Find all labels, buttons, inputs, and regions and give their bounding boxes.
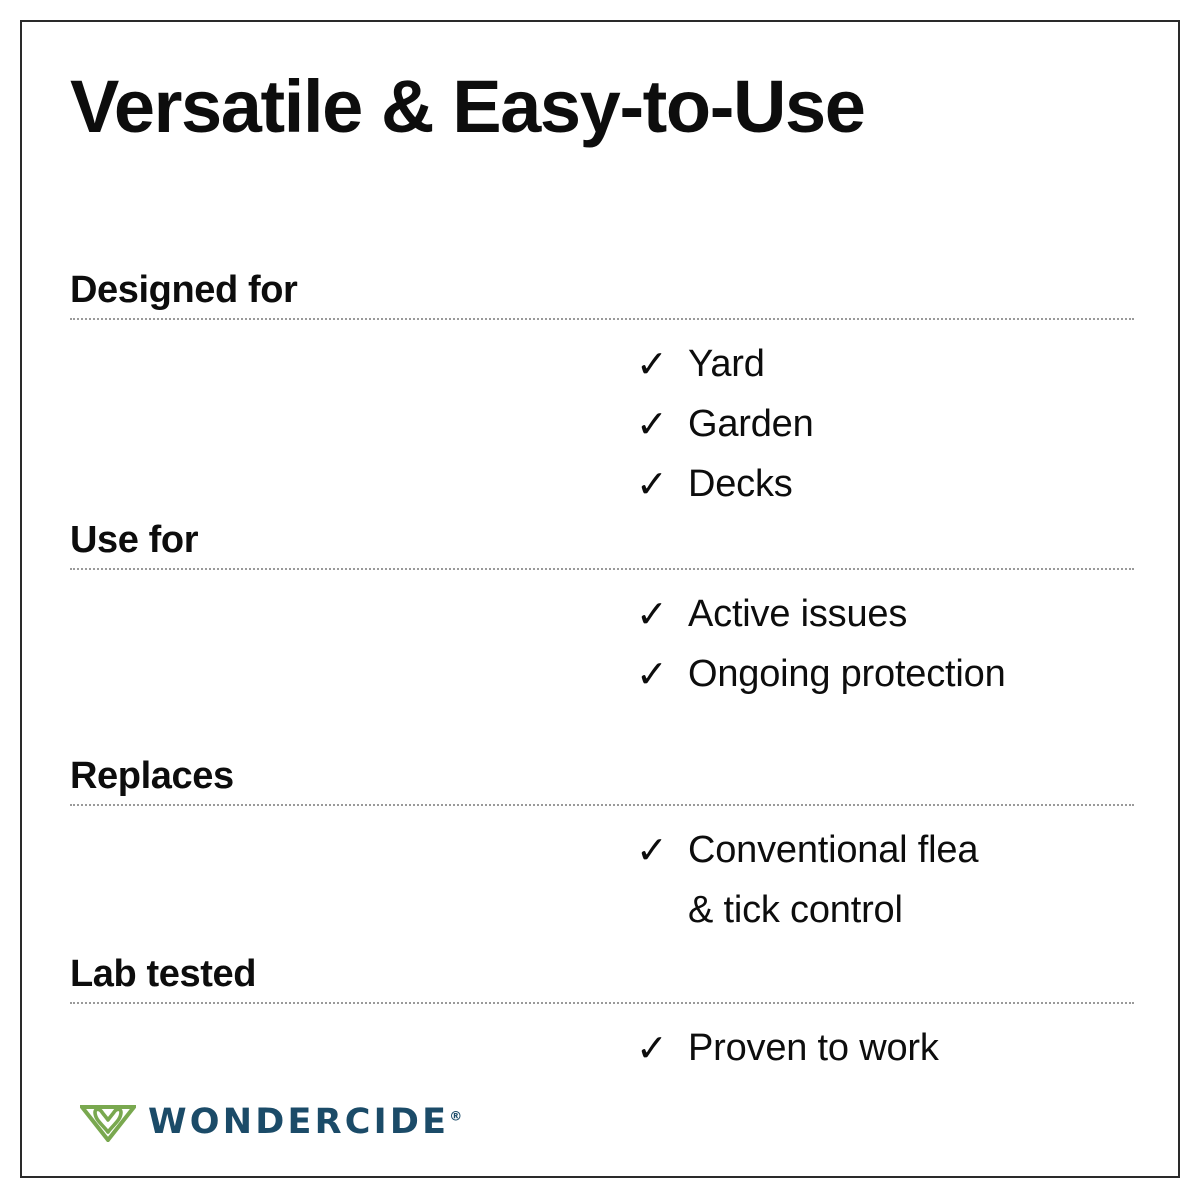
- list-item: ✓ Proven to work: [70, 1018, 1134, 1078]
- checkmark-icon: ✓: [636, 820, 688, 880]
- section-header-lab-tested: Lab tested: [70, 954, 1134, 1004]
- checkmark-icon: ✓: [636, 584, 688, 644]
- list-item-label: Yard: [688, 334, 1134, 394]
- section-items-use-for: ✓ Active issues ✓ Ongoing protection: [70, 570, 1134, 704]
- registered-trademark-icon: ®: [449, 1109, 462, 1124]
- wondercide-w-triangle-icon: [80, 1102, 136, 1142]
- list-item-label: Conventional flea & tick control: [688, 820, 1134, 940]
- list-item: ✓ Conventional flea & tick control: [70, 820, 1134, 940]
- section-items-lab-tested: ✓ Proven to work: [70, 1004, 1134, 1078]
- card-body: Versatile & Easy-to-Use Designed for ✓ Y…: [70, 22, 1134, 1176]
- checkmark-icon: ✓: [636, 394, 688, 454]
- checkmark-icon: ✓: [636, 644, 688, 704]
- list-item-label: Proven to work: [688, 1018, 1134, 1078]
- list-item-label: Decks: [688, 454, 1134, 514]
- checkmark-icon: ✓: [636, 1018, 688, 1078]
- list-item-label: Ongoing protection: [688, 644, 1134, 704]
- section-header-designed-for: Designed for: [70, 270, 1134, 320]
- section-designed-for: Designed for ✓ Yard ✓ Garden ✓ Decks: [70, 270, 1134, 514]
- list-item: ✓ Garden: [70, 394, 1134, 454]
- page-title: Versatile & Easy-to-Use: [70, 70, 865, 144]
- section-use-for: Use for ✓ Active issues ✓ Ongoing protec…: [70, 520, 1134, 704]
- list-item-label: Active issues: [688, 584, 1134, 644]
- section-header-use-for: Use for: [70, 520, 1134, 570]
- list-item-label-line-2: & tick control: [688, 880, 1134, 940]
- section-items-designed-for: ✓ Yard ✓ Garden ✓ Decks: [70, 320, 1134, 514]
- checkmark-icon: ✓: [636, 454, 688, 514]
- section-lab-tested: Lab tested ✓ Proven to work: [70, 954, 1134, 1078]
- brand-wordmark-text: WONDERCIDE: [148, 1102, 449, 1142]
- product-spec-card: Versatile & Easy-to-Use Designed for ✓ Y…: [20, 20, 1180, 1178]
- list-item-label-line-1: Conventional flea: [688, 820, 1134, 880]
- list-item: ✓ Decks: [70, 454, 1134, 514]
- section-replaces: Replaces ✓ Conventional flea & tick cont…: [70, 756, 1134, 940]
- list-item: ✓ Yard: [70, 334, 1134, 394]
- list-item: ✓ Ongoing protection: [70, 644, 1134, 704]
- checkmark-icon: ✓: [636, 334, 688, 394]
- section-items-replaces: ✓ Conventional flea & tick control: [70, 806, 1134, 940]
- section-header-replaces: Replaces: [70, 756, 1134, 806]
- brand-logo: WONDERCIDE®: [80, 1102, 462, 1142]
- list-item: ✓ Active issues: [70, 584, 1134, 644]
- list-item-label: Garden: [688, 394, 1134, 454]
- brand-wordmark: WONDERCIDE®: [148, 1105, 462, 1140]
